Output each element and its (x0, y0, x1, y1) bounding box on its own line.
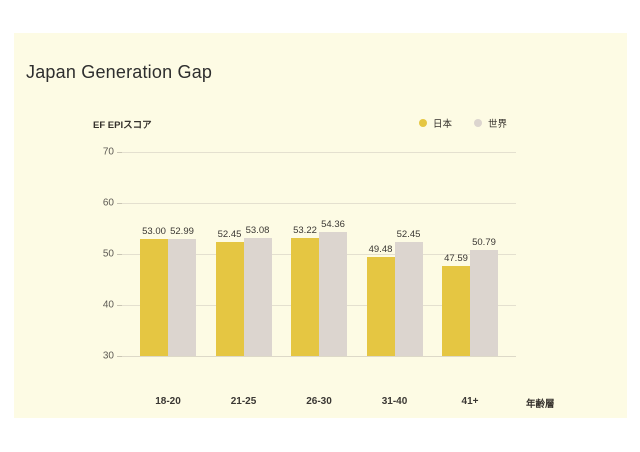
bar-world-31-40[interactable] (395, 242, 423, 356)
y-axis-tick-label: 60 (86, 198, 114, 209)
y-axis-tick-mark (117, 152, 122, 153)
bar-value-label: 52.45 (393, 229, 425, 240)
bar-value-label: 53.08 (242, 225, 274, 236)
y-axis-tick-mark (117, 356, 122, 357)
y-axis-tick-mark (117, 305, 122, 306)
gridline (122, 356, 516, 357)
x-axis-category-label: 18-20 (132, 396, 204, 407)
y-axis-tick-mark (117, 203, 122, 204)
y-axis-tick-label: 50 (86, 249, 114, 260)
bar-japan-26-30[interactable] (291, 238, 319, 356)
y-axis-tick-label: 40 (86, 300, 114, 311)
plot-area: 706050403053.0052.9918-2052.4553.0821-25… (14, 33, 627, 418)
x-axis-category-label: 21-25 (208, 396, 280, 407)
bar-world-18-20[interactable] (168, 239, 196, 356)
bar-world-21-25[interactable] (244, 238, 272, 356)
y-axis-tick-mark (117, 254, 122, 255)
x-axis-title: 年齢層 (526, 396, 555, 410)
bar-value-label: 50.79 (468, 237, 500, 248)
bar-value-label: 52.99 (166, 226, 198, 237)
x-axis-category-label: 31-40 (359, 396, 431, 407)
bar-value-label: 47.59 (440, 253, 472, 264)
bar-world-41+[interactable] (470, 250, 498, 356)
bar-japan-41+[interactable] (442, 266, 470, 356)
bar-chart: EF EPIスコア 日本 世界 706050403053.0052.9918-2… (14, 33, 627, 418)
y-axis-tick-label: 70 (86, 147, 114, 158)
bar-value-label: 49.48 (365, 244, 397, 255)
bar-japan-31-40[interactable] (367, 257, 395, 356)
y-axis-tick-label: 30 (86, 351, 114, 362)
gridline (122, 152, 516, 153)
x-axis-category-label: 26-30 (283, 396, 355, 407)
bar-japan-18-20[interactable] (140, 239, 168, 356)
bar-world-26-30[interactable] (319, 232, 347, 356)
x-axis-category-label: 41+ (434, 396, 506, 407)
gridline (122, 203, 516, 204)
chart-card: Japan Generation Gap EF EPIスコア 日本 世界 706… (14, 33, 627, 418)
bar-japan-21-25[interactable] (216, 242, 244, 356)
bar-value-label: 54.36 (317, 219, 349, 230)
